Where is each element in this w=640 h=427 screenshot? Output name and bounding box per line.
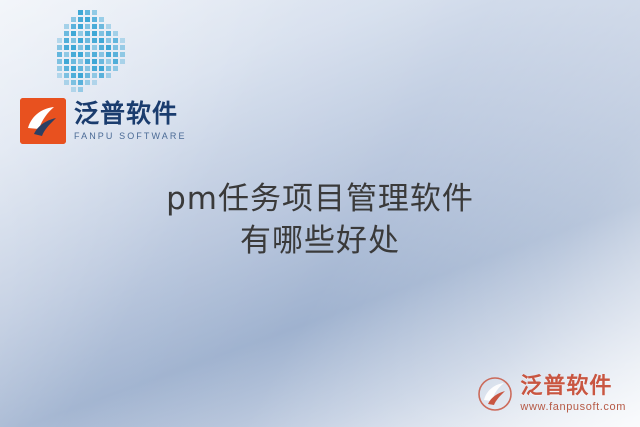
title-line-1: pm任务项目管理软件 [0,178,640,220]
brand-name-cn: 泛普软件 [74,102,187,127]
slide-canvas: 泛普软件 FANPU SOFTWARE pm任务项目管理软件 有哪些好处 泛普软… [0,0,640,427]
watermark-group: 泛普软件 www.fanpusoft.com [478,375,626,413]
brand-text-block: 泛普软件 FANPU SOFTWARE [74,102,187,141]
brand-wordmark-row: 泛普软件 FANPU SOFTWARE [20,98,187,144]
title-line-2: 有哪些好处 [0,220,640,262]
watermark-text-block: 泛普软件 www.fanpusoft.com [520,375,626,413]
fanpu-flame-mark-icon [20,98,66,144]
brand-logo-group: 泛普软件 FANPU SOFTWARE [18,10,218,150]
pixel-building-icon [48,10,168,98]
watermark-company-cn: 泛普软件 [520,375,626,397]
brand-name-en: FANPU SOFTWARE [74,132,187,141]
slide-title: pm任务项目管理软件 有哪些好处 [0,178,640,262]
watermark-url: www.fanpusoft.com [520,402,626,413]
fanpu-flame-mark-icon [478,377,512,411]
